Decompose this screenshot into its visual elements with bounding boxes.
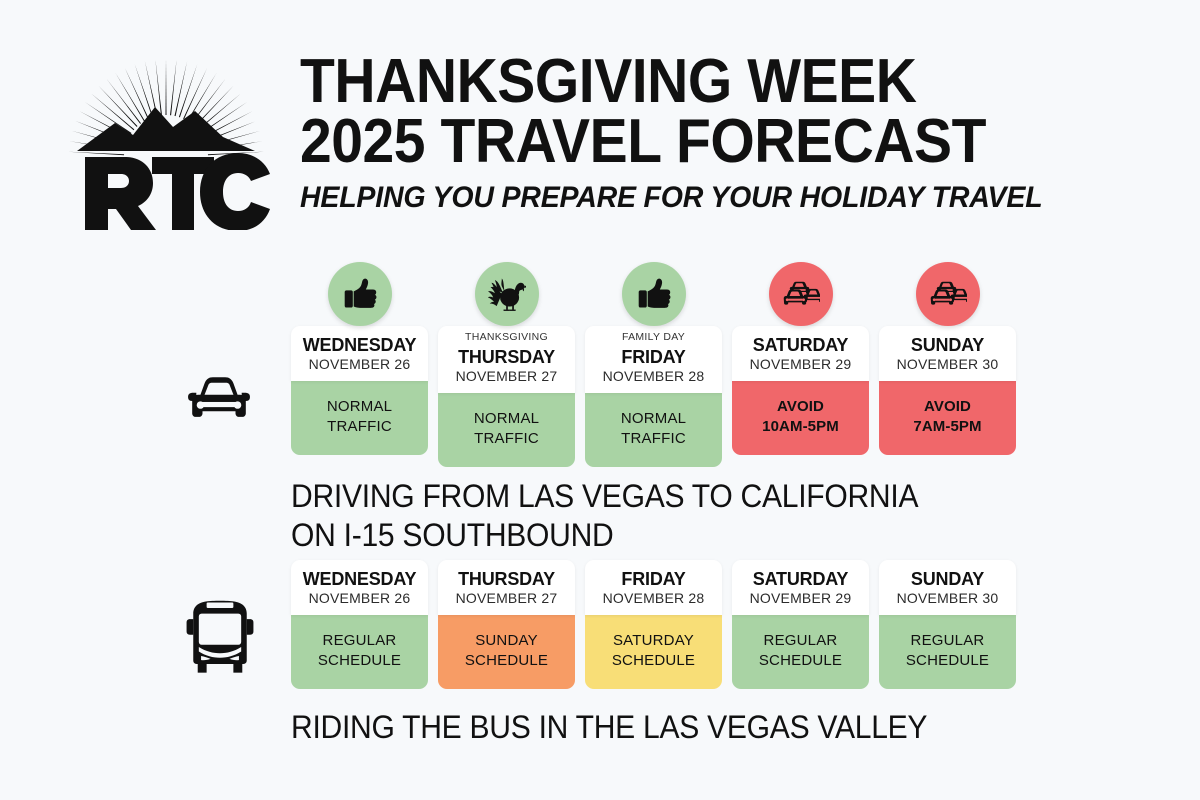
status-badge: AVOID 7AM-5PM	[879, 381, 1016, 455]
status-line-2: TRAFFIC	[327, 417, 392, 437]
status-circle-slot	[438, 258, 575, 326]
day-card[interactable]: WEDNESDAY NOVEMBER 26 REGULAR SCHEDULE	[291, 560, 428, 689]
transit-caption: RIDING THE BUS IN THE LAS VEGAS VALLEY	[291, 708, 927, 747]
status-badge: REGULAR SCHEDULE	[879, 615, 1016, 689]
status-badge: NORMAL TRAFFIC	[585, 393, 722, 467]
title-block: THANKSGIVING WEEK 2025 TRAVEL FORECAST H…	[300, 52, 1180, 215]
day-card-head: WEDNESDAY NOVEMBER 26	[291, 560, 428, 615]
day-card[interactable]: SATURDAY NOVEMBER 29 AVOID 10AM-5PM	[732, 258, 869, 467]
day-card-head: SATURDAY NOVEMBER 29	[732, 560, 869, 615]
day-name: WEDNESDAY	[295, 335, 424, 355]
bus-icon	[184, 598, 256, 676]
status-circle	[475, 262, 539, 326]
status-line-2: SCHEDULE	[612, 651, 695, 671]
day-card-head: SATURDAY NOVEMBER 29	[732, 326, 869, 381]
day-date: NOVEMBER 29	[736, 590, 865, 607]
day-date: NOVEMBER 28	[589, 368, 718, 385]
status-line-1: REGULAR	[906, 631, 989, 651]
status-line-1: NORMAL	[621, 409, 686, 429]
status-badge: NORMAL TRAFFIC	[438, 393, 575, 467]
day-name: SUNDAY	[883, 335, 1012, 355]
day-card-head: THANKSGIVING THURSDAY NOVEMBER 27	[438, 326, 575, 393]
traffic-jam-icon	[782, 277, 820, 311]
day-name: THURSDAY	[442, 569, 571, 589]
day-card[interactable]: SATURDAY NOVEMBER 29 REGULAR SCHEDULE	[732, 560, 869, 689]
status-line-1: REGULAR	[759, 631, 842, 651]
day-name: THURSDAY	[442, 347, 571, 367]
status-line-1: SATURDAY	[612, 631, 695, 651]
day-card[interactable]: FAMILY DAY FRIDAY NOVEMBER 28 NORMAL TRA…	[585, 258, 722, 467]
day-date: NOVEMBER 29	[736, 356, 865, 373]
thumbs-up-icon	[342, 276, 378, 312]
day-card[interactable]: THANKSGIVING THURSDAY NOVEMBER 27 NORMAL…	[438, 258, 575, 467]
day-card-head: WEDNESDAY NOVEMBER 26	[291, 326, 428, 381]
traffic-jam-icon	[929, 277, 967, 311]
status-line-1: REGULAR	[318, 631, 401, 651]
status-circle	[328, 262, 392, 326]
status-circle	[769, 262, 833, 326]
status-badge: SUNDAY SCHEDULE	[438, 615, 575, 689]
driving-caption: DRIVING FROM LAS VEGAS TO CALIFORNIA ON …	[291, 477, 918, 555]
status-line-1: NORMAL	[474, 409, 539, 429]
car-icon	[186, 370, 252, 436]
day-name: FRIDAY	[589, 569, 718, 589]
day-card-head: FRIDAY NOVEMBER 28	[585, 560, 722, 615]
status-line-2: 7AM-5PM	[913, 417, 981, 437]
status-circle-slot	[732, 258, 869, 326]
day-date: NOVEMBER 28	[589, 590, 718, 607]
status-line-1: SUNDAY	[465, 631, 548, 651]
page-subtitle: HELPING YOU PREPARE FOR YOUR HOLIDAY TRA…	[300, 181, 1136, 215]
day-card-head: SUNDAY NOVEMBER 30	[879, 326, 1016, 381]
day-name: FRIDAY	[589, 347, 718, 367]
status-line-2: SCHEDULE	[906, 651, 989, 671]
status-circle-slot	[291, 258, 428, 326]
day-date: NOVEMBER 30	[883, 590, 1012, 607]
day-name: WEDNESDAY	[295, 569, 424, 589]
status-badge: AVOID 10AM-5PM	[732, 381, 869, 455]
rtc-logo	[55, 45, 280, 230]
status-badge: REGULAR SCHEDULE	[291, 615, 428, 689]
page-title-line-2: 2025 TRAVEL FORECAST	[300, 112, 1110, 172]
day-date: NOVEMBER 26	[295, 356, 424, 373]
header: THANKSGIVING WEEK 2025 TRAVEL FORECAST H…	[0, 0, 1200, 250]
status-circle	[622, 262, 686, 326]
day-card-head: SUNDAY NOVEMBER 30	[879, 560, 1016, 615]
day-card[interactable]: FRIDAY NOVEMBER 28 SATURDAY SCHEDULE	[585, 560, 722, 689]
status-line-2: 10AM-5PM	[762, 417, 839, 437]
day-date: NOVEMBER 27	[442, 590, 571, 607]
status-badge: NORMAL TRAFFIC	[291, 381, 428, 455]
status-line-2: SCHEDULE	[465, 651, 548, 671]
day-card[interactable]: SUNDAY NOVEMBER 30 AVOID 7AM-5PM	[879, 258, 1016, 467]
day-name: SATURDAY	[736, 569, 865, 589]
status-line-2: TRAFFIC	[621, 429, 686, 449]
status-circle-slot	[585, 258, 722, 326]
page-title-line-1: THANKSGIVING WEEK	[300, 52, 1110, 112]
holiday-tag: FAMILY DAY	[589, 332, 718, 345]
day-card[interactable]: THURSDAY NOVEMBER 27 SUNDAY SCHEDULE	[438, 560, 575, 689]
status-line-2: SCHEDULE	[318, 651, 401, 671]
day-name: SUNDAY	[883, 569, 1012, 589]
day-name: SATURDAY	[736, 335, 865, 355]
status-badge: REGULAR SCHEDULE	[732, 615, 869, 689]
status-line-1: AVOID	[762, 397, 839, 417]
day-card-head: THURSDAY NOVEMBER 27	[438, 560, 575, 615]
day-date: NOVEMBER 26	[295, 590, 424, 607]
driving-day-cards: WEDNESDAY NOVEMBER 26 NORMAL TRAFFIC	[291, 258, 1016, 467]
day-card[interactable]: SUNDAY NOVEMBER 30 REGULAR SCHEDULE	[879, 560, 1016, 689]
status-line-2: TRAFFIC	[474, 429, 539, 449]
holiday-tag: THANKSGIVING	[442, 332, 571, 345]
day-date: NOVEMBER 30	[883, 356, 1012, 373]
turkey-icon	[488, 276, 526, 312]
status-badge: SATURDAY SCHEDULE	[585, 615, 722, 689]
status-line-1: AVOID	[913, 397, 981, 417]
transit-day-cards: WEDNESDAY NOVEMBER 26 REGULAR SCHEDULE T…	[291, 560, 1016, 689]
day-date: NOVEMBER 27	[442, 368, 571, 385]
status-circle-slot	[879, 258, 1016, 326]
thumbs-up-icon	[636, 276, 672, 312]
status-line-1: NORMAL	[327, 397, 392, 417]
infographic-page: THANKSGIVING WEEK 2025 TRAVEL FORECAST H…	[0, 0, 1200, 800]
day-card-head: FAMILY DAY FRIDAY NOVEMBER 28	[585, 326, 722, 393]
status-circle	[916, 262, 980, 326]
status-line-2: SCHEDULE	[759, 651, 842, 671]
day-card[interactable]: WEDNESDAY NOVEMBER 26 NORMAL TRAFFIC	[291, 258, 428, 467]
